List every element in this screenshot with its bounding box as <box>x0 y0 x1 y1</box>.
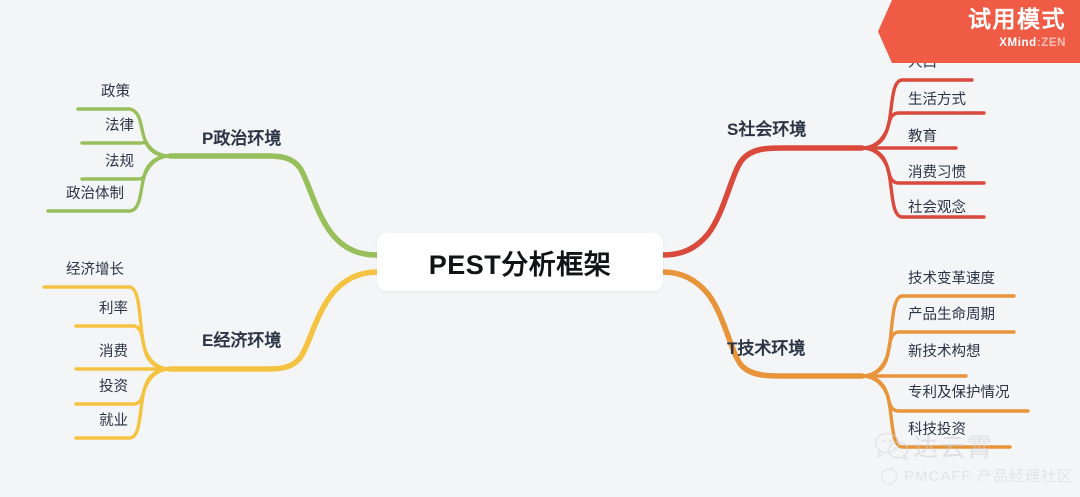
trial-mode-title: 试用模式 <box>968 4 1066 34</box>
xmind-brand-suffix: :ZEN <box>1037 37 1066 49</box>
leaf-tech-change-speed[interactable]: 技术变革速度 <box>908 267 995 288</box>
root-node-label: PEST分析框架 <box>429 243 612 282</box>
trunk-political <box>170 156 377 255</box>
trunk-economic <box>170 272 377 369</box>
xmind-brand-name: XMind <box>999 37 1037 49</box>
wechat-icon <box>875 431 909 461</box>
watermark-pmcaff-text: PMCAFF 产品经理社区 <box>904 465 1073 486</box>
leaf-political-law[interactable]: 法律 <box>22 114 134 135</box>
branch-label-political[interactable]: P政治环境 <box>202 124 281 149</box>
leaf-economic-growth[interactable]: 经济增长 <box>0 258 124 279</box>
leaf-political-policy[interactable]: 政策 <box>18 80 130 101</box>
watermark-wechat-text: 达云霄 <box>913 428 994 464</box>
leaf-economic-employment[interactable]: 就业 <box>16 409 128 430</box>
leaf-economic-investment[interactable]: 投资 <box>16 375 128 396</box>
leaf-tech-product-lifecycle[interactable]: 产品生命周期 <box>908 303 995 324</box>
leaf-political-regulation[interactable]: 法规 <box>22 150 134 171</box>
trunk-social <box>663 148 862 255</box>
trial-mode-badge[interactable]: 试用模式 XMind:ZEN <box>878 0 1080 63</box>
leaf-economic-consumption[interactable]: 消费 <box>16 340 128 361</box>
trial-badge-content: 试用模式 XMind:ZEN <box>968 4 1066 50</box>
branch-label-technological[interactable]: T技术环境 <box>727 334 805 359</box>
watermark-pmcaff: PMCAFF 产品经理社区 <box>880 465 1073 486</box>
trunk-technological <box>663 272 862 376</box>
branch-label-social[interactable]: S社会环境 <box>727 115 806 140</box>
watermark-wechat: 达云霄 <box>875 428 994 464</box>
leaf-economic-interest-rate[interactable]: 利率 <box>16 297 128 318</box>
branch-label-economic[interactable]: E经济环境 <box>202 326 281 351</box>
leaf-social-lifestyle[interactable]: 生活方式 <box>908 88 966 109</box>
root-node[interactable]: PEST分析框架 <box>377 233 663 291</box>
leaf-social-consumption-habits[interactable]: 消费习惯 <box>908 161 966 182</box>
leaf-social-values[interactable]: 社会观念 <box>908 196 966 217</box>
leaf-tech-patents[interactable]: 专利及保护情况 <box>908 381 1010 402</box>
trial-brand: XMind:ZEN <box>968 35 1066 50</box>
pmcaff-logo-icon <box>880 467 898 485</box>
leaf-political-system[interactable]: 政治体制 <box>0 182 124 203</box>
mindmap-canvas: PEST分析框架 P政治环境 E经济环境 S社会环境 T技术环境 政策 法律 法… <box>0 0 1080 497</box>
leaf-social-education[interactable]: 教育 <box>908 125 937 146</box>
leaf-tech-new-concepts[interactable]: 新技术构想 <box>908 340 981 361</box>
